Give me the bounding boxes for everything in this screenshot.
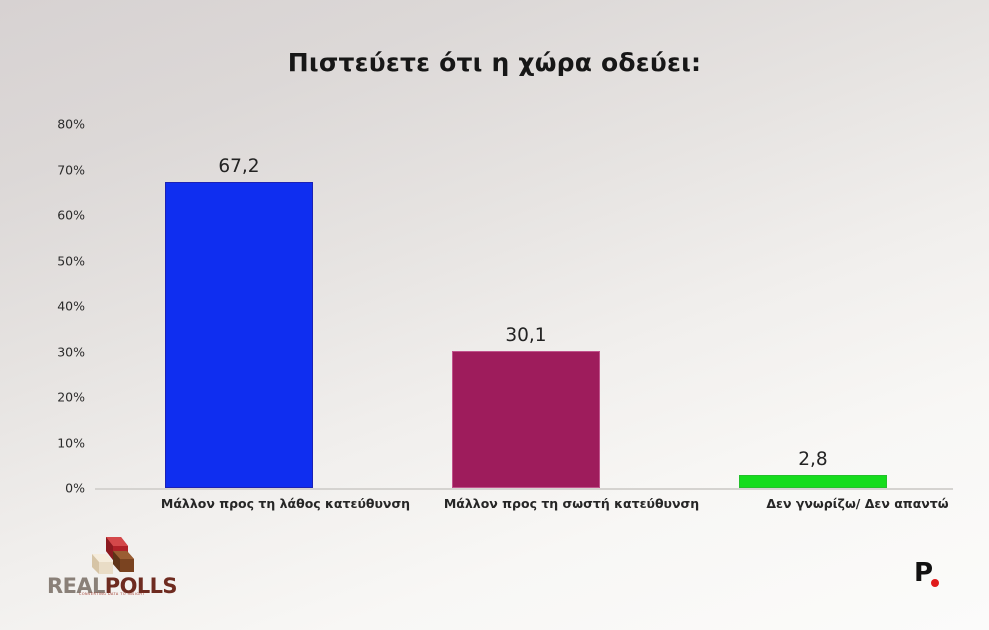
bar-group-1: 67,2 [165, 124, 313, 488]
x-axis-line [95, 488, 953, 490]
bar-right-direction[interactable] [452, 351, 600, 488]
y-tick-label: 60% [57, 208, 85, 223]
bar-group-2: 30,1 [452, 124, 600, 488]
y-tick-label: 70% [57, 162, 85, 177]
y-tick-label: 40% [57, 299, 85, 314]
prorata-dot-icon [931, 579, 939, 587]
bar-value-label: 2,8 [739, 449, 887, 470]
bar-group-3: 2,8 [739, 124, 887, 488]
x-category-label-3: Δεν γνωρίζω/ Δεν απαντώ [667, 496, 989, 511]
bar-value-label: 30,1 [452, 325, 600, 346]
realpolls-tagline: CONVERTING DATA TO INSIGHT [47, 592, 177, 596]
page-title: Πιστεύετε ότι η χώρα οδεύει: [0, 48, 989, 77]
y-tick-label: 30% [57, 344, 85, 359]
y-tick-label: 10% [57, 435, 85, 450]
realpolls-logo: REALPOLLS CONVERTING DATA TO INSIGHT [47, 534, 177, 596]
y-tick-label: 80% [57, 117, 85, 132]
bar-value-label: 67,2 [165, 156, 313, 177]
y-tick-label: 20% [57, 390, 85, 405]
chart-plot-area: 80% 70% 60% 50% 40% 30% 20% 10% 0% 67 [95, 124, 953, 488]
slide-canvas: Πιστεύετε ότι η χώρα οδεύει: 80% 70% 60%… [0, 0, 989, 630]
y-tick-label: 50% [57, 253, 85, 268]
realpolls-cube-icon [47, 534, 177, 578]
y-tick-label: 0% [65, 481, 85, 496]
bar-wrong-direction[interactable] [165, 182, 313, 488]
prorata-logo: P [914, 565, 954, 593]
bar-dont-know[interactable] [739, 475, 887, 488]
